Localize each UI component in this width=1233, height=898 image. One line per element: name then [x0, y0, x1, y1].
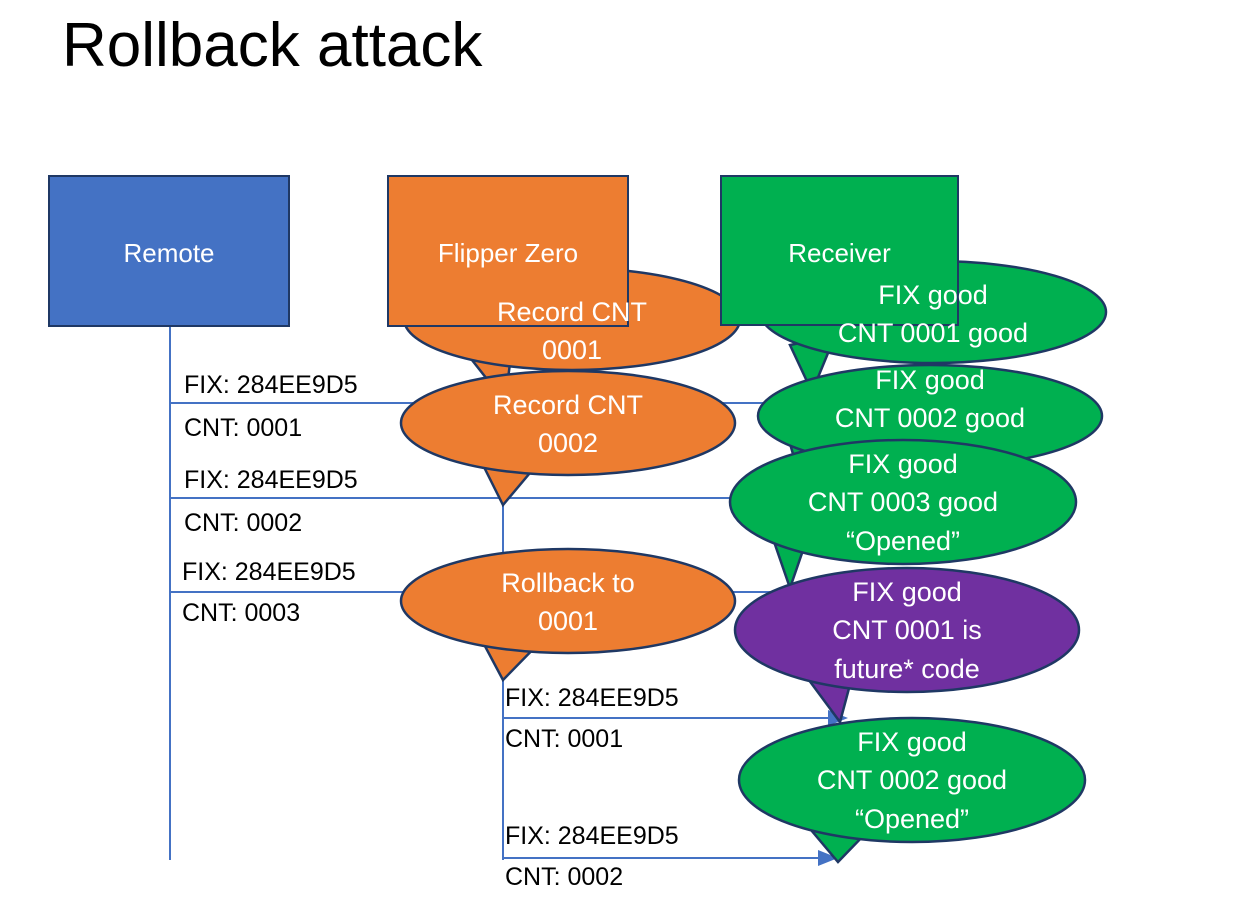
message-3-fix-label: FIX: 284EE9D5 — [182, 560, 356, 585]
callout-receiver-reject-future — [735, 568, 1079, 722]
message-5-fix-label: FIX: 284EE9D5 — [505, 824, 679, 849]
message-1-fix-label: FIX: 284EE9D5 — [184, 373, 358, 398]
actor-box-flipper[interactable]: Flipper Zero — [387, 175, 629, 327]
actor-label-receiver: Receiver — [722, 239, 957, 268]
callout-flipper-rollback-0001 — [401, 549, 735, 680]
diagram-vector-layer — [0, 0, 1233, 898]
slide-canvas: Rollback attack — [0, 0, 1233, 898]
callout-body — [401, 549, 735, 653]
actor-box-receiver[interactable]: Receiver — [720, 175, 959, 326]
message-5-cnt-label: CNT: 0002 — [505, 865, 623, 890]
message-4-cnt-label: CNT: 0001 — [505, 727, 623, 752]
callout-receiver-ok-0002-opened — [739, 718, 1085, 862]
message-2-cnt-label: CNT: 0002 — [184, 511, 302, 536]
callout-body — [401, 371, 735, 475]
actor-box-remote[interactable]: Remote — [48, 175, 290, 327]
message-3-cnt-label: CNT: 0003 — [182, 601, 300, 626]
message-2-fix-label: FIX: 284EE9D5 — [184, 468, 358, 493]
actor-label-flipper: Flipper Zero — [389, 239, 627, 268]
callout-body — [735, 568, 1079, 692]
callout-body — [730, 440, 1076, 564]
message-1-cnt-label: CNT: 0001 — [184, 416, 302, 441]
actor-label-remote: Remote — [50, 239, 288, 268]
callout-receiver-ok-0003-opened — [730, 440, 1076, 588]
message-4-fix-label: FIX: 284EE9D5 — [505, 686, 679, 711]
callout-body — [739, 718, 1085, 842]
callout-flipper-record-0002 — [401, 371, 735, 505]
